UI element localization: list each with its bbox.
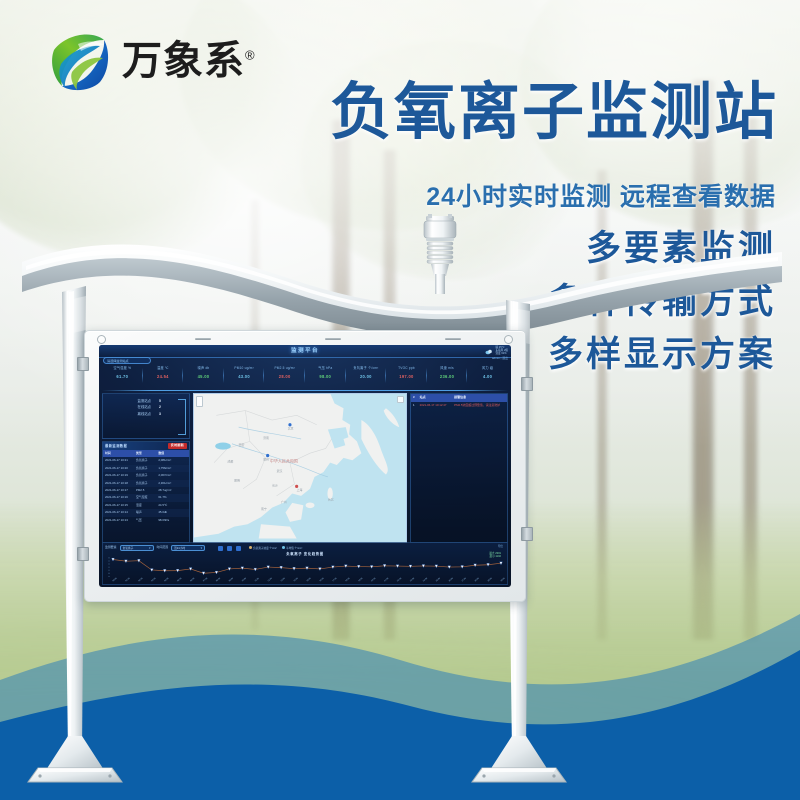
map-zoom-control[interactable] [196, 396, 203, 407]
stat-row: 离线站点 3 [103, 411, 189, 417]
column-header: 数值 [156, 450, 189, 457]
alarm-time: 2021-06-17 10:12:47 [420, 404, 455, 408]
metric-label: PM10 ug/m³ [224, 366, 265, 370]
column-header: 报警信息 [454, 396, 507, 400]
svg-text:19:00: 19:00 [358, 577, 364, 582]
cell-type: 气压 [134, 517, 156, 524]
cell-value: 24.5℃ [156, 502, 189, 509]
trend-chart: 00:0001:0002:0003:0004:0005:0006:0007:00… [105, 556, 505, 583]
svg-text:16:00: 16:00 [319, 577, 325, 582]
chart-element-select[interactable]: 负氧离子 [120, 545, 154, 551]
metric-label: PM2.5 ug/m³ [264, 366, 305, 370]
cell-time: 2021-06-17 10:15 [103, 502, 134, 509]
svg-text:08:00: 08:00 [216, 577, 222, 582]
svg-text:14:00: 14:00 [293, 577, 299, 582]
table-view-icon[interactable] [236, 546, 241, 551]
decorative-bracket [178, 399, 186, 435]
cell-type: 温度 [134, 502, 156, 509]
cell-type: 负氧离子 [134, 480, 156, 487]
svg-text:22:00: 22:00 [397, 577, 403, 582]
metric-card: 空气湿度 % 61.70 [102, 366, 143, 390]
table-row[interactable]: 2021-06-17 10:19 负氧离子 2,067/cm³ [103, 472, 189, 479]
legend-label: 负氧离子浓度 个/cm³ [253, 547, 277, 550]
table-row[interactable]: 2021-06-17 10:21 负氧离子 2,081/cm³ [103, 457, 189, 464]
alarm-message: PM2.5浓度超过预警值，请注意防护 [454, 404, 507, 408]
column-header: # [411, 396, 420, 400]
anchor-base-plate [28, 736, 122, 782]
svg-text:07:00: 07:00 [203, 577, 209, 582]
user-menu[interactable]: admin | 退出 [492, 357, 508, 361]
svg-text:20:00: 20:00 [371, 577, 377, 582]
legend-label: 平均值 个/cm³ [286, 547, 302, 550]
metric-card: TVOC ppb 197.00 [386, 366, 427, 390]
alarm-list: 1 2021-06-17 10:12:47 PM2.5浓度超过预警值，请注意防护 [411, 402, 507, 542]
svg-text:13:00: 13:00 [281, 577, 287, 582]
cabinet-lock-icon [97, 335, 106, 344]
legend-swatch [249, 546, 252, 549]
metric-card: 噪声 db 45.00 [183, 366, 224, 390]
metric-card: PM10 ug/m³ 43.00 [224, 366, 265, 390]
svg-text:济南: 济南 [263, 435, 269, 440]
cell-type: 负氧离子 [134, 472, 156, 479]
refresh-badge[interactable]: 实时刷新 [168, 443, 187, 449]
cell-value: 2,301/cm³ [156, 480, 189, 487]
cell-time: 2021-06-17 10:16 [103, 494, 134, 501]
metric-value: 4.00 [467, 374, 508, 379]
cabinet-vent [445, 338, 461, 340]
cell-type: 空气湿度 [134, 494, 156, 501]
map-country-label: 中华人民共和国 [270, 458, 298, 464]
cabinet-vent [325, 338, 341, 340]
metric-label: 空气湿度 % [102, 366, 143, 370]
svg-text:27:00: 27:00 [462, 577, 468, 582]
cell-value: 61.7% [156, 494, 189, 501]
cell-time: 2021-06-17 10:14 [103, 509, 134, 516]
table-row[interactable]: 2021-06-17 10:14 噪声 45.0db [103, 509, 189, 516]
screen-bezel: 监测平台 晴 25℃ 东南风 2级 湿度 61% 请选择监测站点 admin |… [99, 345, 511, 587]
metrics-row: 空气湿度 % 61.70 温度 ℃ 24.54 噪声 db 45.00 PM10… [102, 366, 508, 390]
cabinet-hinge [77, 357, 89, 371]
svg-text:21:00: 21:00 [384, 577, 390, 582]
site-selector[interactable]: 请选择监测站点 [103, 357, 151, 364]
svg-text:05:00: 05:00 [177, 577, 183, 582]
chart-view-toggles [218, 546, 241, 551]
cell-value: 45.0db [156, 509, 189, 516]
svg-text:06:00: 06:00 [190, 577, 196, 582]
table-row[interactable]: 2021-06-17 10:13 气压 98.0hPa [103, 517, 189, 524]
records-table: 时间 类型 数值 2021-06-17 10:21 负氧离子 2,081/cm³ [103, 450, 189, 542]
legend-item: 负氧离子浓度 个/cm³ [249, 546, 277, 550]
svg-text:30:00: 30:00 [500, 577, 505, 582]
alarm-row[interactable]: 1 2021-06-17 10:12:47 PM2.5浓度超过预警值，请注意防护 [411, 402, 507, 410]
cell-type: PM2.5 [134, 487, 156, 494]
export-button[interactable]: 导出 [498, 545, 503, 548]
cabinet-vent [195, 338, 211, 340]
svg-text:01:00: 01:00 [125, 577, 131, 582]
cabinet-hinge [77, 547, 89, 561]
line-chart-icon[interactable] [218, 546, 223, 551]
svg-text:西安: 西安 [239, 442, 245, 447]
cell-time: 2021-06-17 10:18 [103, 480, 134, 487]
cell-value: 2,081/cm³ [156, 457, 189, 464]
cloud-icon [485, 348, 493, 356]
svg-text:23:00: 23:00 [410, 577, 416, 582]
cell-value: 98.0hPa [156, 517, 189, 524]
metric-label: TVOC ppb [386, 366, 427, 370]
metric-card: 温度 ℃ 24.54 [143, 366, 184, 390]
metric-label: 负氧离子 个/cm³ [346, 366, 387, 370]
cell-time: 2021-06-17 10:21 [103, 457, 134, 464]
cell-type: 负氧离子 [134, 465, 156, 472]
column-header: 站点 [420, 396, 455, 400]
station-stats-panel: 监测站点 5 在线站点 2 离线站点 3 [102, 393, 190, 439]
metric-label: 气压 hPa [305, 366, 346, 370]
weather-text: 晴 25℃ 东南风 2级 湿度 61% [495, 347, 508, 356]
wave-canopy [22, 244, 782, 337]
metric-card: 负氧离子 个/cm³ 20.00 [346, 366, 387, 390]
cell-time: 2021-06-17 10:17 [103, 487, 134, 494]
cabinet-lock-icon [504, 335, 513, 344]
dashboard-body: 监测站点 5 在线站点 2 离线站点 3 [102, 393, 508, 543]
stat-value: 3 [159, 411, 167, 417]
metric-value: 236.00 [427, 374, 468, 379]
display-cabinet: 监测平台 晴 25℃ 东南风 2级 湿度 61% 请选择监测站点 admin |… [84, 330, 526, 602]
legend-swatch [282, 546, 285, 549]
cell-type: 负氧离子 [134, 457, 156, 464]
metric-value: 24.54 [143, 374, 184, 379]
right-column: # 站点 报警信息 1 2021-06-17 10:12:47 PM2.5浓度超… [410, 393, 508, 543]
chart-legend: 负氧离子浓度 个/cm³ 平均值 个/cm³ [249, 546, 302, 550]
svg-text:长沙: 长沙 [272, 482, 278, 487]
station-map[interactable]: 北京 济南 西安 成都 郑州 武汉 长沙 上海 广州 南宁 [193, 393, 407, 543]
svg-text:25:00: 25:00 [436, 577, 442, 582]
table-header-row: 时间 类型 数值 [103, 450, 189, 457]
cell-value: 28.7ug/m³ [156, 487, 189, 494]
table-row[interactable]: 2021-06-17 10:17 PM2.5 28.7ug/m³ [103, 487, 189, 494]
cabinet-hinge [521, 377, 533, 391]
svg-text:11:00: 11:00 [255, 577, 261, 582]
cell-time: 2021-06-17 10:19 [103, 472, 134, 479]
metric-card: 风力 级 4.00 [467, 366, 508, 390]
anchor-base-plate [472, 736, 566, 782]
metric-card: 风速 m/s 236.00 [427, 366, 468, 390]
table-row[interactable]: 2021-06-17 10:16 空气湿度 61.7% [103, 494, 189, 501]
svg-text:26:00: 26:00 [449, 577, 455, 582]
ultrasonic-weather-sensor [414, 214, 466, 294]
metrics-divider [102, 390, 508, 391]
alarm-panel: # 站点 报警信息 1 2021-06-17 10:12:47 PM2.5浓度超… [410, 393, 508, 543]
svg-text:12:00: 12:00 [268, 577, 274, 582]
svg-text:24:00: 24:00 [423, 577, 429, 582]
svg-text:广州: 广州 [281, 499, 287, 504]
stat-label: 离线站点 [125, 411, 151, 417]
weather-line-3: 湿度 61% [495, 352, 506, 355]
svg-text:02:00: 02:00 [138, 577, 144, 582]
svg-text:昆明: 昆明 [234, 477, 240, 482]
svg-text:03:00: 03:00 [151, 577, 157, 582]
cabinet-hinge [521, 527, 533, 541]
metric-card: 气压 hPa 98.00 [305, 366, 346, 390]
svg-text:28:00: 28:00 [475, 577, 481, 582]
monitoring-dashboard: 监测平台 晴 25℃ 东南风 2级 湿度 61% 请选择监测站点 admin |… [99, 345, 511, 587]
metric-label: 风力 级 [467, 366, 508, 370]
chart-toolbar: 监测要素 负氧离子 时间范围 近24小时 负氧离子浓度 个/cm³ 平均值 个/… [105, 544, 505, 552]
table-row[interactable]: 2021-06-17 10:18 负氧离子 2,301/cm³ [103, 480, 189, 487]
left-column: 监测站点 5 在线站点 2 离线站点 3 [102, 393, 190, 543]
svg-text:10:00: 10:00 [242, 577, 248, 582]
svg-text:04:00: 04:00 [164, 577, 170, 582]
metric-value: 98.00 [305, 374, 346, 379]
metric-label: 温度 ℃ [143, 366, 184, 370]
svg-text:29:00: 29:00 [487, 577, 493, 582]
map-fullscreen-control[interactable] [397, 396, 404, 403]
chart-select2-label: 时间范围 [157, 546, 169, 550]
bar-chart-icon[interactable] [227, 546, 232, 551]
svg-text:09:00: 09:00 [229, 577, 235, 582]
product-banner: 万象系® 负氧离子监测站 24小时实时监测 远程查看数据 多要素监测 多种传输方… [0, 0, 800, 800]
alarm-index: 1 [411, 404, 420, 408]
table-row[interactable]: 2021-06-17 10:20 负氧离子 1,756/cm³ [103, 465, 189, 472]
records-title: 最新监测数据 [105, 444, 127, 448]
svg-text:成都: 成都 [227, 459, 233, 464]
cell-time: 2021-06-17 10:20 [103, 465, 134, 472]
chart-range-select[interactable]: 近24小时 [171, 545, 205, 551]
alarm-header-row: # 站点 报警信息 [411, 394, 507, 402]
metric-value: 61.70 [102, 374, 143, 379]
chart-select1-label: 监测要素 [105, 546, 117, 550]
map-column: 北京 济南 西安 成都 郑州 武汉 长沙 上海 广州 南宁 [193, 393, 407, 543]
svg-text:00:00: 00:00 [112, 577, 118, 582]
trend-chart-panel: 监测要素 负氧离子 时间范围 近24小时 负氧离子浓度 个/cm³ 平均值 个/… [102, 542, 508, 585]
records-panel: 最新监测数据 实时刷新 时间 类型 数值 2021-06-17 [102, 441, 190, 543]
column-header: 时间 [103, 450, 134, 457]
svg-text:17:00: 17:00 [332, 577, 338, 582]
svg-text:台北: 台北 [328, 496, 334, 501]
cell-value: 1,756/cm³ [156, 465, 189, 472]
cell-value: 2,067/cm³ [156, 472, 189, 479]
metric-label: 噪声 db [183, 366, 224, 370]
svg-text:15:00: 15:00 [306, 577, 312, 582]
metric-value: 43.00 [224, 374, 265, 379]
column-header: 类型 [134, 450, 156, 457]
svg-text:18:00: 18:00 [345, 577, 351, 582]
cell-type: 噪声 [134, 509, 156, 516]
records-header: 最新监测数据 实时刷新 [103, 442, 189, 450]
metric-label: 风速 m/s [427, 366, 468, 370]
metric-value: 28.00 [264, 374, 305, 379]
metric-value: 45.00 [183, 374, 224, 379]
svg-text:南宁: 南宁 [261, 506, 267, 511]
support-pole-left [62, 286, 86, 752]
legend-item: 平均值 个/cm³ [282, 546, 302, 550]
metric-card: PM2.5 ug/m³ 28.00 [264, 366, 305, 390]
cell-time: 2021-06-17 10:13 [103, 517, 134, 524]
metric-value: 20.00 [346, 374, 387, 379]
svg-text:武汉: 武汉 [277, 468, 283, 473]
svg-text:上海: 上海 [297, 487, 303, 492]
table-row[interactable]: 2021-06-17 10:15 温度 24.5℃ [103, 502, 189, 509]
metric-value: 197.00 [386, 374, 427, 379]
